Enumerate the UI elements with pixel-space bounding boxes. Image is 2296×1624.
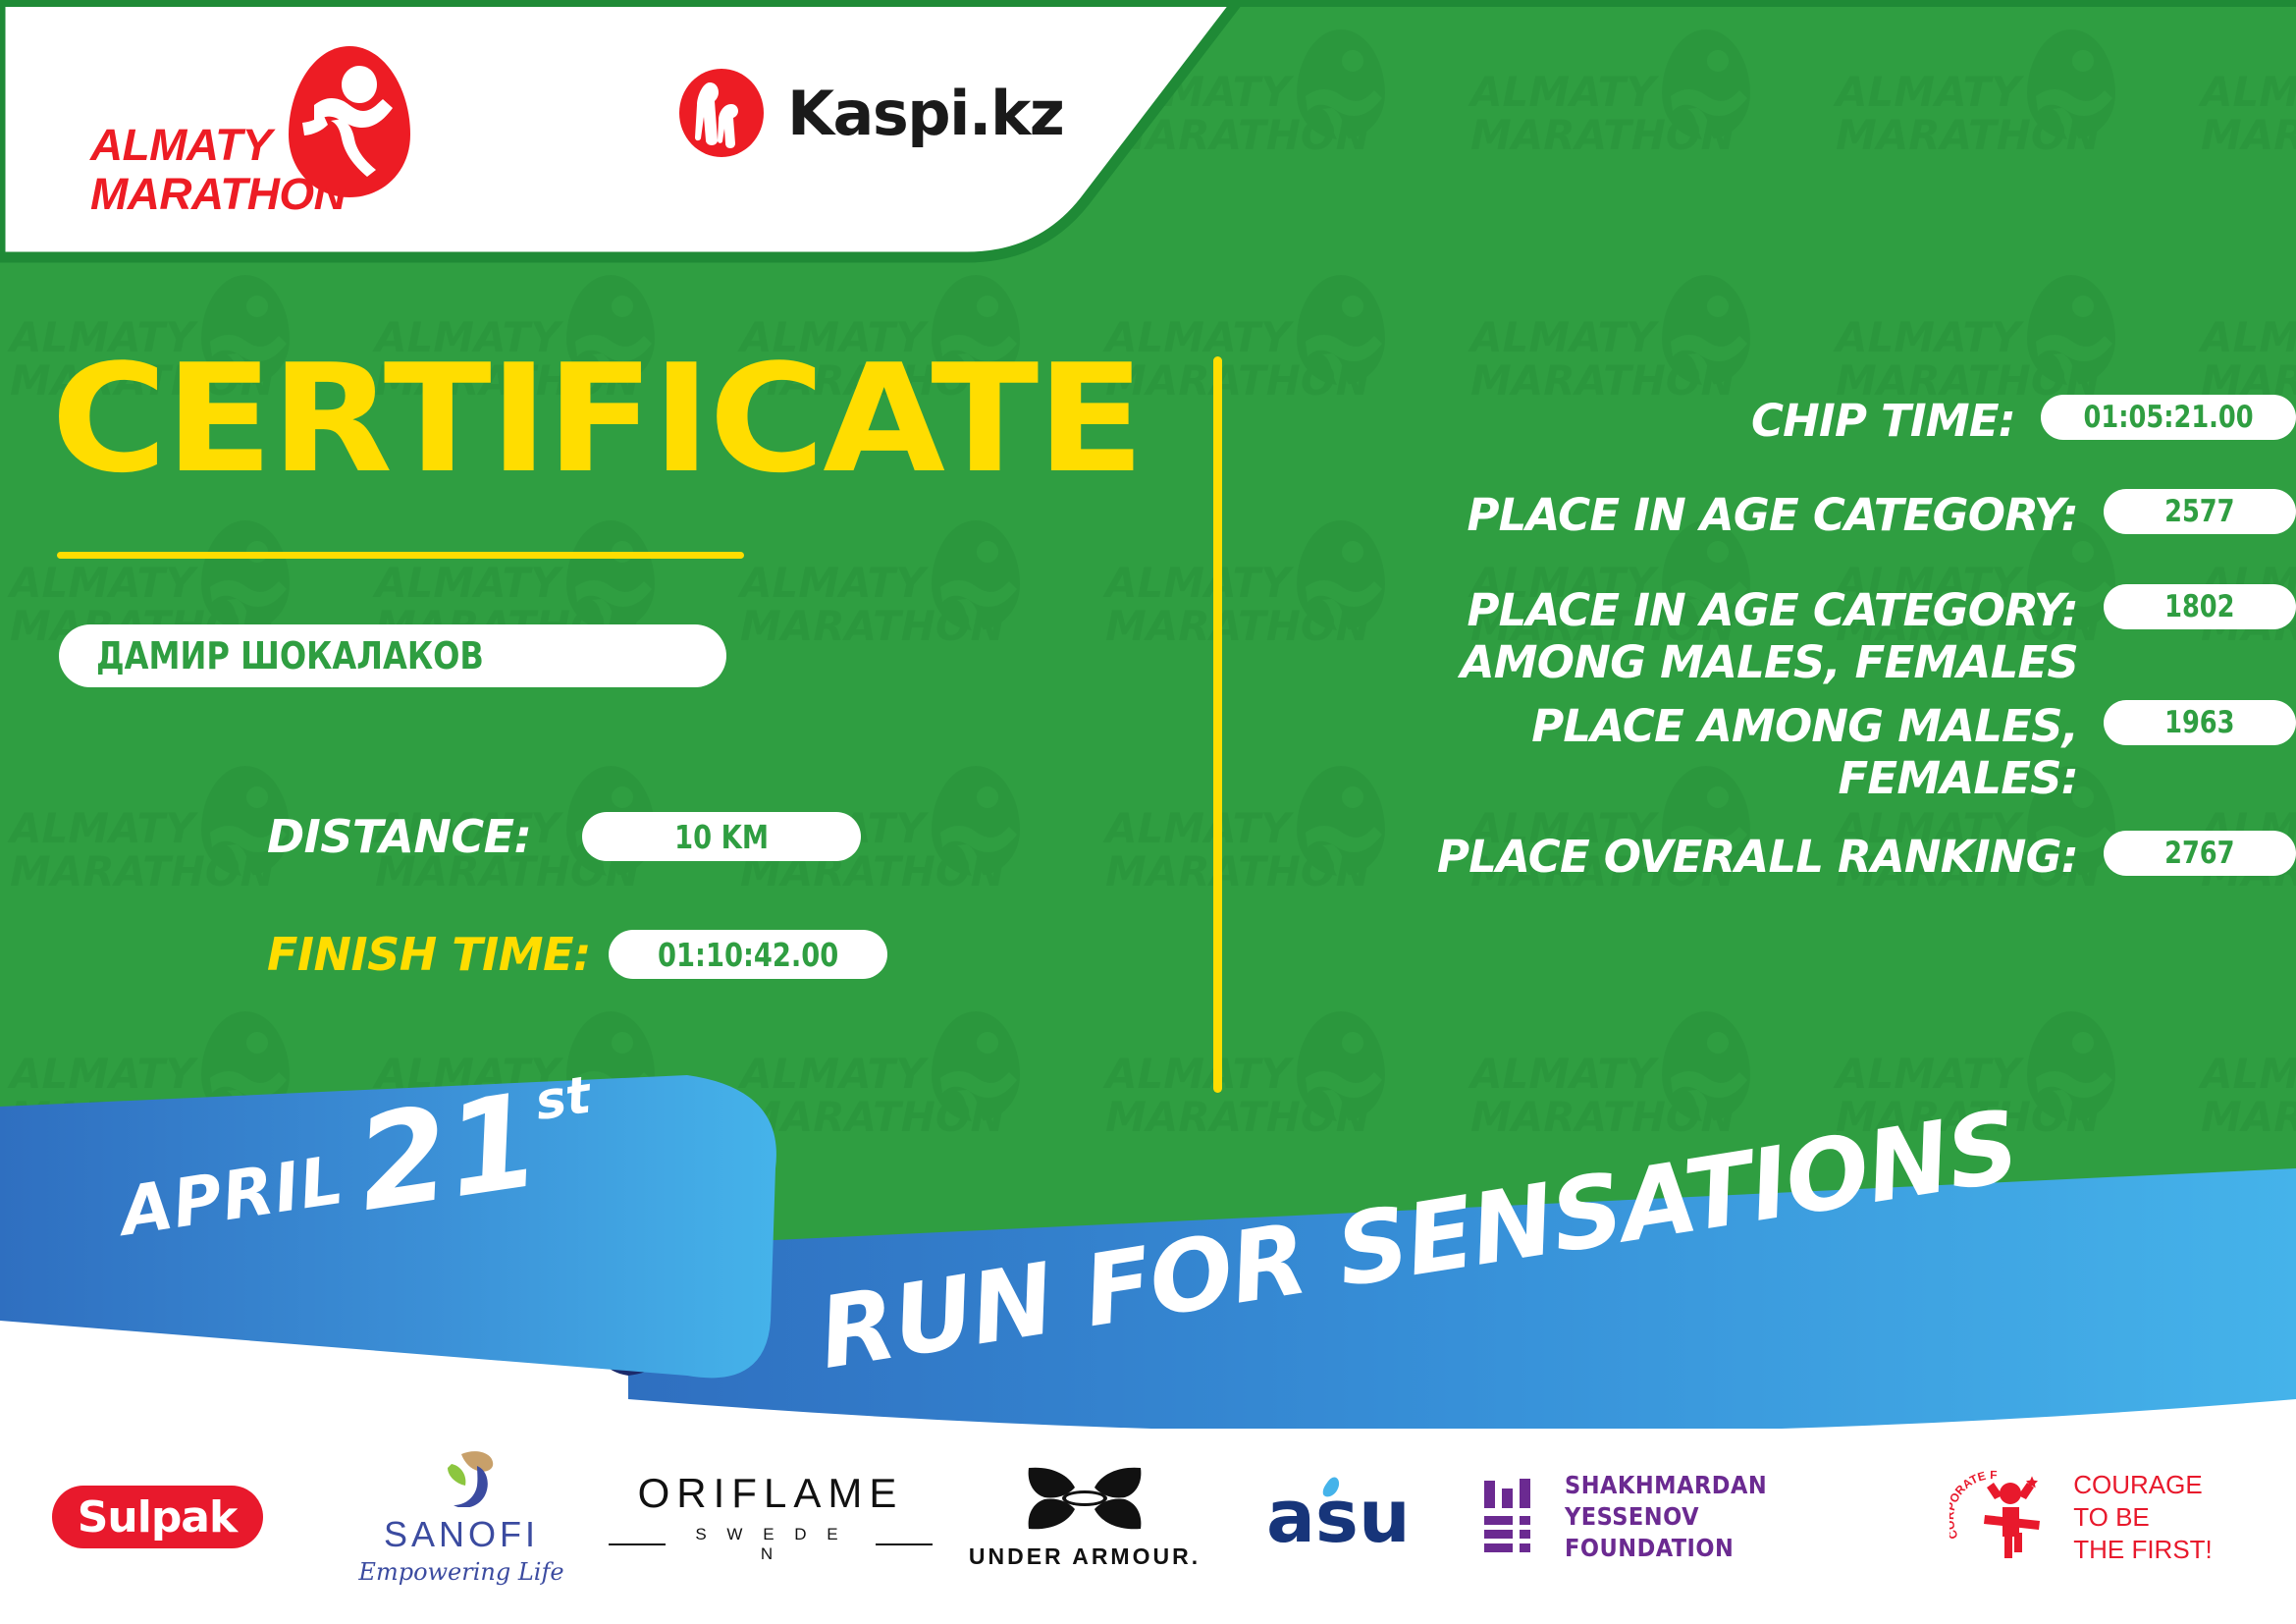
- logo-line-almaty: ALMATY: [90, 121, 366, 170]
- distance-label: DISTANCE:: [267, 810, 531, 863]
- right-column-stats: CHIP TIME: 01:05:21.00 PLACE IN AGE CATE…: [1256, 0, 2296, 1110]
- yessenov-foundation-icon: [1482, 1477, 1543, 1558]
- kaspi-logo: Kaspi.kz: [677, 69, 1063, 157]
- stat-value: 01:05:21.00: [2083, 400, 2253, 435]
- stat-value: 1963: [2164, 705, 2234, 740]
- distance-value: 10 KM: [674, 818, 769, 856]
- event-day-suffix: st: [531, 1066, 594, 1133]
- certificate-page: ALMATY MARATHON Kaspi.kz CERTIFICATE ДАМ…: [0, 0, 2296, 1624]
- event-day: 21: [350, 1082, 546, 1223]
- almaty-marathon-logo: ALMATY MARATHON: [90, 44, 414, 201]
- title-underline: [57, 552, 744, 559]
- sulpak-wordmark: Sulpak: [78, 1492, 238, 1543]
- stat-value: 2577: [2164, 494, 2234, 529]
- oriflame-rule-right: [876, 1543, 933, 1545]
- stat-label: CHIP TIME:: [1751, 395, 2015, 447]
- sponsor-sanofi: SANOFI Empowering Life: [314, 1443, 609, 1591]
- finish-time-value: 01:10:42.00: [658, 936, 838, 974]
- under-armour-icon: [1021, 1520, 1148, 1537]
- almaty-marathon-wordmark: ALMATY MARATHON: [90, 121, 360, 219]
- stat-value-pill: 1802: [2104, 584, 2296, 629]
- courage-line1: COURAGE: [2073, 1469, 2213, 1501]
- oriflame-sweden-label: S W E D E N: [679, 1525, 862, 1564]
- sponsor-under-armour: UNDER ARMOUR.: [933, 1443, 1237, 1591]
- svg-text:CORPORATE FUND: CORPORATE FUND: [1949, 1468, 1998, 1542]
- distance-row: DISTANCE: 10 KM: [267, 810, 861, 863]
- stat-label: PLACE IN AGE CATEGORY:: [1467, 489, 2078, 541]
- sulpak-logo: Sulpak: [52, 1486, 263, 1548]
- stat-value: 1802: [2164, 589, 2234, 624]
- vertical-divider: [1213, 356, 1222, 1093]
- distance-value-pill: 10 KM: [582, 812, 861, 861]
- stat-row-place-among-males-females: PLACE AMONG MALES, FEMALES: 1963: [1531, 700, 2296, 804]
- finish-time-row: FINISH TIME: 01:10:42.00: [267, 928, 887, 981]
- stat-row-chip-time: CHIP TIME: 01:05:21.00: [1751, 395, 2296, 447]
- stat-row-place-in-age-category-among-males-females: PLACE IN AGE CATEGORY: AMONG MALES, FEMA…: [1461, 584, 2296, 688]
- sanofi-logo-icon: [422, 1494, 501, 1511]
- logo-line-marathon: MARATHON: [90, 170, 366, 219]
- stat-label: PLACE IN AGE CATEGORY: AMONG MALES, FEMA…: [1461, 584, 2078, 688]
- sanofi-wordmark: SANOFI: [358, 1514, 563, 1555]
- kaspi-people-icon: [677, 69, 766, 157]
- sanofi-tagline: Empowering Life: [358, 1558, 563, 1586]
- stat-value-pill: 2577: [2104, 489, 2296, 534]
- page-title: CERTIFICATE: [51, 346, 1143, 493]
- sponsor-yessenov-foundation: SHAKHMARDAN YESSENOV FOUNDATION: [1482, 1443, 1904, 1591]
- header-logos: ALMATY MARATHON Kaspi.kz: [0, 0, 1178, 257]
- oriflame-wordmark: ORIFLAME: [609, 1470, 933, 1517]
- stat-label: PLACE AMONG MALES, FEMALES:: [1531, 700, 2078, 804]
- courage-to-be-the-first-icon: CORPORATE FUND: [1949, 1468, 2057, 1567]
- stat-row-place-in-age-category: PLACE IN AGE CATEGORY: 2577: [1467, 489, 2296, 541]
- stat-row-place-overall-ranking: PLACE OVERALL RANKING: 2767: [1437, 831, 2296, 883]
- stat-value-pill: 1963: [2104, 700, 2296, 745]
- courage-line3: THE FIRST!: [2073, 1534, 2213, 1566]
- yessenov-line2: FOUNDATION: [1565, 1533, 1904, 1564]
- stat-label: PLACE OVERALL RANKING:: [1437, 831, 2078, 883]
- oriflame-rule-left: [609, 1543, 666, 1545]
- sponsor-sulpak: Sulpak: [0, 1443, 314, 1591]
- sponsor-oriflame: ORIFLAME S W E D E N: [609, 1443, 933, 1591]
- finish-time-value-pill: 01:10:42.00: [609, 930, 887, 979]
- athlete-name-field: ДАМИР ШОКАЛАКОВ: [59, 624, 726, 687]
- courage-line2: TO BE: [2073, 1501, 2213, 1534]
- sponsor-asu: asu: [1237, 1443, 1482, 1591]
- stat-value-pill: 01:05:21.00: [2041, 395, 2296, 440]
- sponsor-courage-to-be-the-first: CORPORATE FUND COURAGE TO BE: [1904, 1443, 2258, 1591]
- kaspi-wordmark: Kaspi.kz: [787, 78, 1063, 149]
- sponsor-bar: Sulpak SANOFI Empowering Life ORIFLAME: [0, 1429, 2296, 1605]
- stat-value: 2767: [2164, 836, 2234, 871]
- top-green-rule: [0, 0, 2296, 7]
- asu-logo-icon: asu: [1266, 1473, 1453, 1562]
- finish-time-label: FINISH TIME:: [267, 928, 591, 981]
- yessenov-line1: SHAKHMARDAN YESSENOV: [1565, 1470, 1904, 1533]
- stat-value-pill: 2767: [2104, 831, 2296, 876]
- under-armour-wordmark: UNDER ARMOUR.: [969, 1543, 1201, 1570]
- athlete-name-value: ДАМИР ШОКАЛАКОВ: [96, 634, 484, 677]
